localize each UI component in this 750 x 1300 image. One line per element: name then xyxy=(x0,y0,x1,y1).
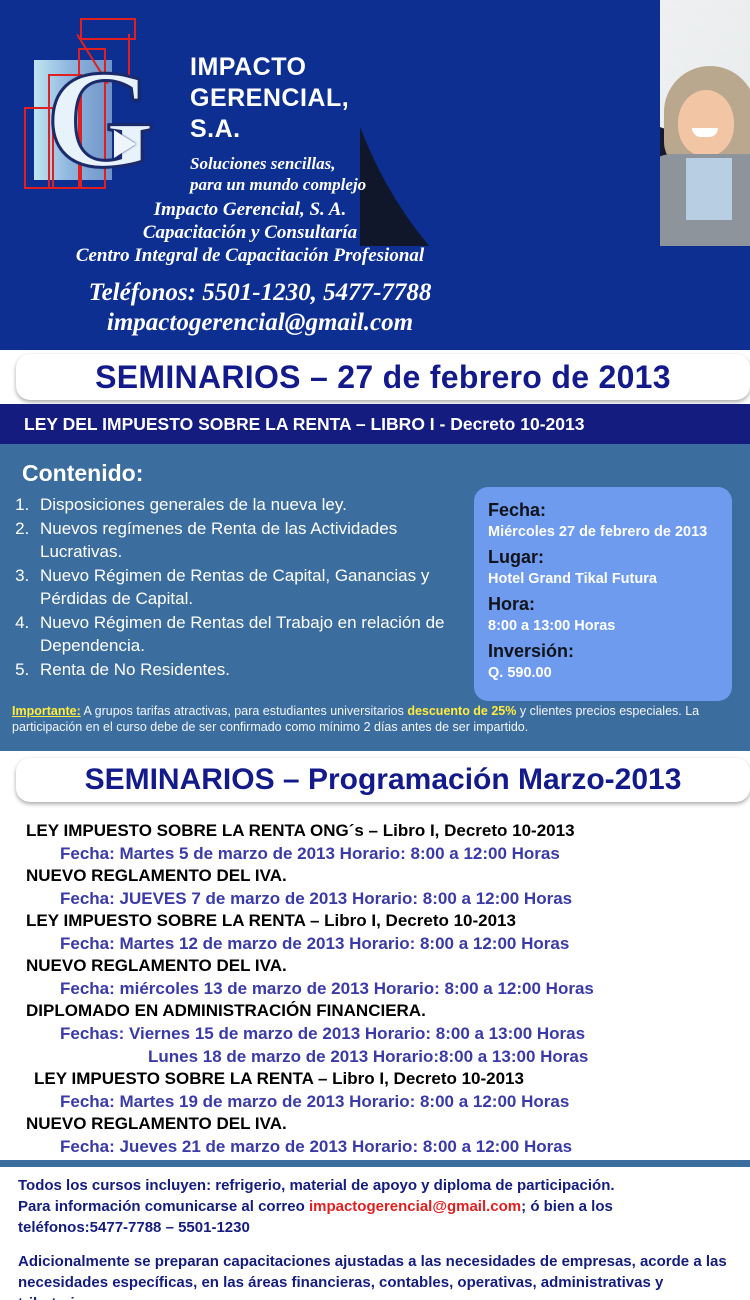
footer-line2-after: ; ó bien a los xyxy=(521,1198,613,1215)
contenido-item-3: Nuevo Régimen de Rentas de Capital, Gana… xyxy=(34,564,474,610)
footer-line2-before: Para información comunicarse al correo xyxy=(18,1198,309,1215)
footer-line3: teléfonos:5477-7788 – 5501-1230 xyxy=(18,1217,736,1238)
section-divider xyxy=(0,1160,750,1167)
seminarios-febrero-subtitle-bar: LEY DEL IMPUESTO SOBRE LA RENTA – LIBRO … xyxy=(0,404,750,444)
importante-text-before: A grupos tarifas atractivas, para estudi… xyxy=(81,704,408,718)
header-banner: 4 2 3 xyxy=(0,0,750,350)
seminarios-febrero-banner: SEMINARIOS – 27 de febrero de 2013 xyxy=(16,354,750,400)
head xyxy=(678,90,734,156)
brand-name-line2: GERENCIAL, S.A. xyxy=(190,83,400,145)
importante-note: Importante: A grupos tarifas atractivas,… xyxy=(0,703,750,735)
schedule-list: LEY IMPUESTO SOBRE LA RENTA ONG´s – Libr… xyxy=(0,812,750,1160)
importante-label: Importante: xyxy=(12,704,81,718)
contenido-item-2: Nuevos regímenes de Renta de las Activid… xyxy=(34,517,474,563)
tagline-line1: Soluciones sencillas, xyxy=(190,153,400,174)
seminarios-marzo-banner: SEMINARIOS – Programación Marzo-2013 xyxy=(16,758,750,802)
footer-section: Todos los cursos incluyen: refrigerio, m… xyxy=(0,1167,750,1300)
schedule-date-row: Fecha: Martes 12 de marzo de 2013 Horari… xyxy=(0,932,750,955)
brand-tagline: Soluciones sencillas, para un mundo comp… xyxy=(190,153,400,195)
corp-line1: Impacto Gerencial, S. A. xyxy=(0,198,500,221)
contact-lines: Teléfonos: 5501-1230, 5477-7788 impactog… xyxy=(0,278,520,338)
schedule-course-row: NUEVO REGLAMENTO DEL IVA. xyxy=(0,865,750,887)
event-info-box: Fecha: Miércoles 27 de febrero de 2013 L… xyxy=(474,487,732,701)
schedule-course-row: NUEVO REGLAMENTO DEL IVA. xyxy=(0,1113,750,1135)
schedule-course-row: DIPLOMADO EN ADMINISTRACIÓN FINANCIERA. xyxy=(0,1000,750,1022)
phones-line: Teléfonos: 5501-1230, 5477-7788 xyxy=(0,278,520,308)
seminarios-febrero-subtitle: LEY DEL IMPUESTO SOBRE LA RENTA – LIBRO … xyxy=(24,414,584,435)
contenido-item-1: Disposiciones generales de la nueva ley. xyxy=(34,493,474,516)
schedule-date-row: Lunes 18 de marzo de 2013 Horario:8:00 a… xyxy=(0,1045,750,1068)
footer-line2: Para información comunicarse al correo i… xyxy=(18,1196,736,1217)
corp-line2: Capacitación y Consultaría xyxy=(0,221,500,244)
footer-email[interactable]: impactogerencial@gmail.com xyxy=(309,1198,521,1215)
schedule-course-row: NUEVO REGLAMENTO DEL IVA. xyxy=(0,955,750,977)
footer-line1: Todos los cursos incluyen: refrigerio, m… xyxy=(18,1175,736,1196)
inversion-label: Inversión: xyxy=(488,640,718,663)
tagline-line2: para un mundo complejo xyxy=(190,174,400,195)
logo-arrow-icon xyxy=(114,130,136,158)
brand-name-line1: IMPACTO xyxy=(190,52,400,83)
schedule-date-row: Fecha: Jueves 21 de marzo de 2013 Horari… xyxy=(0,1135,750,1158)
schedule-date-row: Fecha: Martes 5 de marzo de 2013 Horario… xyxy=(0,842,750,865)
schedule-course-row: LEY IMPUESTO SOBRE LA RENTA ONG´s – Libr… xyxy=(0,820,750,842)
lugar-value: Hotel Grand Tikal Futura xyxy=(488,569,718,590)
schedule-course-row: LEY IMPUESTO SOBRE LA RENTA – Libro I, D… xyxy=(0,1068,750,1090)
contenido-heading: Contenido: xyxy=(0,444,750,491)
seminarios-marzo-title: SEMINARIOS – Programación Marzo-2013 xyxy=(85,763,682,796)
brand-block: IMPACTO GERENCIAL, S.A. Soluciones senci… xyxy=(190,52,400,195)
email-line[interactable]: impactogerencial@gmail.com xyxy=(0,308,520,338)
schedule-date-row: Fecha: JUEVES 7 de marzo de 2013 Horario… xyxy=(0,887,750,910)
schedule-course-row: LEY IMPUESTO SOBRE LA RENTA – Libro I, D… xyxy=(0,910,750,932)
importante-discount: descuento de 25% xyxy=(407,704,516,718)
impacto-gerencial-logo: G xyxy=(18,12,168,194)
schedule-date-row: Fecha: Martes 19 de marzo de 2013 Horari… xyxy=(0,1090,750,1113)
logo-letter-g: G xyxy=(46,66,154,184)
hora-label: Hora: xyxy=(488,593,718,616)
fecha-label: Fecha: xyxy=(488,499,718,522)
corporate-lines: Impacto Gerencial, S. A. Capacitación y … xyxy=(0,198,500,267)
flyer-page: 4 2 3 xyxy=(0,0,750,1300)
contenido-item-4: Nuevo Régimen de Rentas del Trabajo en r… xyxy=(34,611,474,657)
contenido-list: Disposiciones generales de la nueva ley.… xyxy=(0,491,474,681)
fecha-value: Miércoles 27 de febrero de 2013 xyxy=(488,522,718,543)
schedule-date-row: Fecha: miércoles 13 de marzo de 2013 Hor… xyxy=(0,977,750,1000)
corp-line3: Centro Integral de Capacitación Profesio… xyxy=(0,244,500,267)
schedule-date-row: Fechas: Viernes 15 de marzo de 2013 Hora… xyxy=(0,1022,750,1045)
lugar-label: Lugar: xyxy=(488,546,718,569)
footer-paragraph2: Adicionalmente se preparan capacitacione… xyxy=(18,1251,736,1300)
shirt xyxy=(686,158,732,220)
inversion-value: Q. 590.00 xyxy=(488,663,718,684)
contenido-item-5: Renta de No Residentes. xyxy=(34,658,474,681)
hora-value: 8:00 a 13:00 Horas xyxy=(488,616,718,637)
seminarios-febrero-title: SEMINARIOS – 27 de febrero de 2013 xyxy=(95,359,671,395)
